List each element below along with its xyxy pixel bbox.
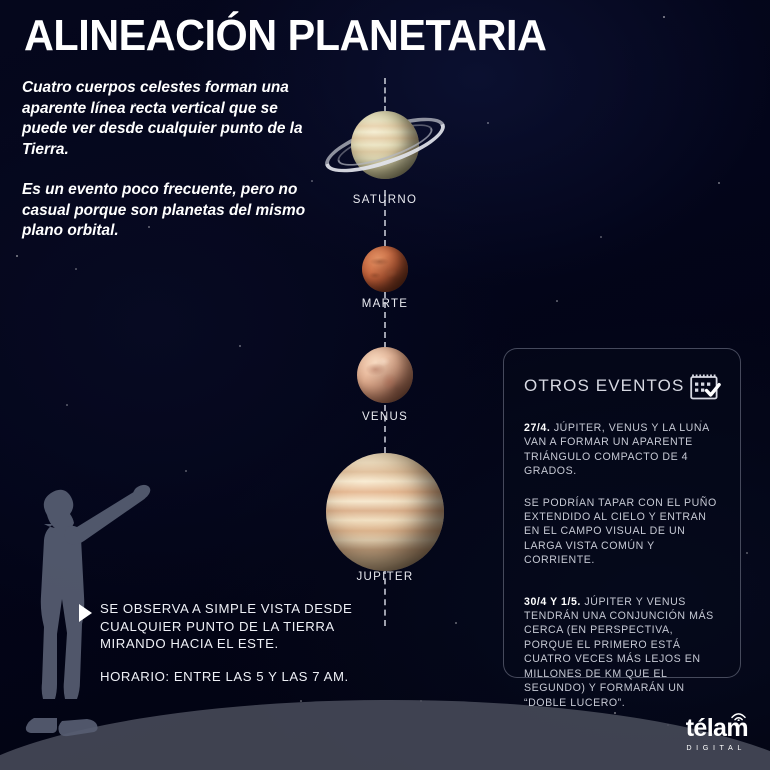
note-spacer <box>100 653 380 668</box>
calendar-check-icon <box>688 369 722 403</box>
page-title: ALINEACIÓN PLANETARIA <box>24 14 546 58</box>
events-panel-header: OTROS EVENTOS <box>524 369 722 403</box>
intro-paragraph-1: Cuatro cuerpos celestes forman una apare… <box>22 78 322 160</box>
planet-label-saturno: SATURNO <box>353 194 417 206</box>
event-spacer-2 <box>524 568 722 595</box>
planet-label-marte: MARTE <box>362 298 409 310</box>
intro-spacer <box>22 160 322 180</box>
planet-venus <box>357 347 413 403</box>
wifi-arc-icon <box>730 709 747 721</box>
intro-paragraph-2: Es un evento poco frecuente, pero no cas… <box>22 180 322 242</box>
planet-saturno <box>325 90 445 200</box>
planet-label-venus: VENUS <box>362 411 408 423</box>
observation-note: SE OBSERVA A SIMPLE VISTA DESDE CUALQUIE… <box>100 600 380 685</box>
play-arrow-icon <box>79 604 92 622</box>
events-panel: OTROS EVENTOS 27/4. JÚPITER, V <box>503 348 741 678</box>
intro-text: Cuatro cuerpos celestes forman una apare… <box>22 78 322 242</box>
event-item-1: 27/4. JÚPITER, VENUS Y LA LUNA VAN A FOR… <box>524 421 722 479</box>
telam-logo[interactable]: télam DIGITAL <box>686 716 748 752</box>
events-panel-title: OTROS EVENTOS <box>524 376 684 396</box>
infographic-page: ALINEACIÓN PLANETARIA Cuatro cuerpos cel… <box>0 0 770 770</box>
event-item-3: 30/4 Y 1/5. JÚPITER Y VENUS TENDRÁN UNA … <box>524 595 722 710</box>
planet-marte <box>362 246 408 292</box>
planet-jupiter <box>326 453 444 571</box>
event-text-2: SE PODRÍAN TAPAR CON EL PUÑO EXTENDIDO A… <box>524 497 717 567</box>
event-date-1: 27/4. <box>524 422 550 434</box>
note-line-1: SE OBSERVA A SIMPLE VISTA DESDE CUALQUIE… <box>100 600 380 653</box>
event-text-1: JÚPITER, VENUS Y LA LUNA VAN A FORMAR UN… <box>524 422 709 477</box>
events-panel-body: 27/4. JÚPITER, VENUS Y LA LUNA VAN A FOR… <box>524 421 722 710</box>
event-spacer-1 <box>524 479 722 496</box>
note-line-2: HORARIO: ENTRE LAS 5 Y LAS 7 AM. <box>100 668 380 686</box>
planet-label-jupiter: JUPITER <box>356 571 413 583</box>
event-item-2: SE PODRÍAN TAPAR CON EL PUÑO EXTENDIDO A… <box>524 496 722 568</box>
event-date-3: 30/4 Y 1/5. <box>524 596 581 608</box>
event-text-3: JÚPITER Y VENUS TENDRÁN UNA CONJUNCIÓN M… <box>524 596 714 709</box>
logo-subtitle: DIGITAL <box>686 743 746 752</box>
